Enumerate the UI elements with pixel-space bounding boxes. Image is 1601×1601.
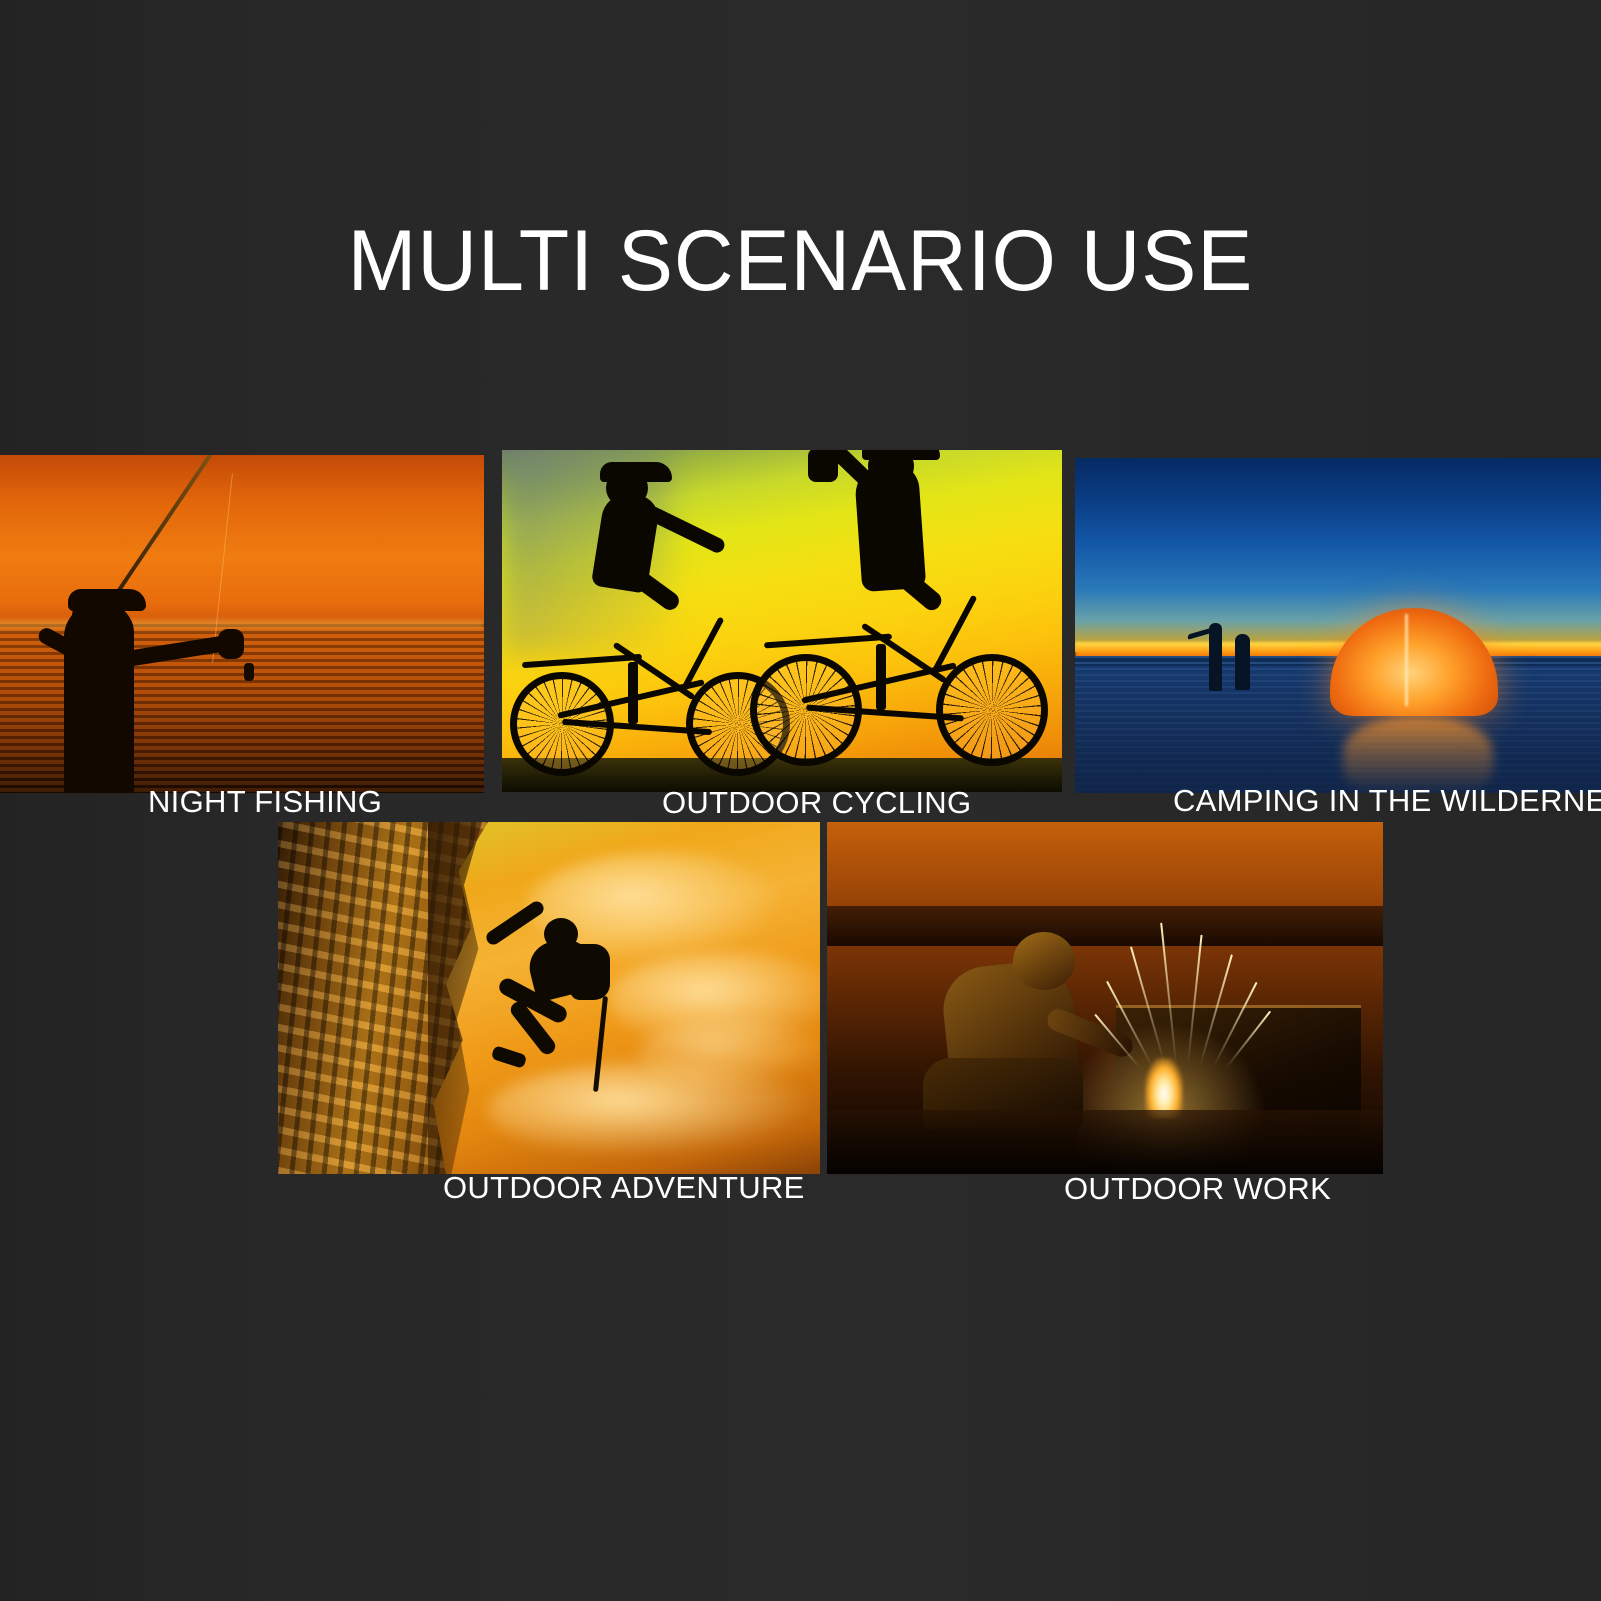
scene-outdoor-cycling xyxy=(502,450,1062,792)
panel-night-fishing[interactable] xyxy=(0,455,484,793)
scene-night-fishing xyxy=(0,455,484,793)
caption-camping-in-the-wilderness: CAMPING IN THE WILDERNESS xyxy=(1173,785,1601,816)
bicycle-right xyxy=(750,588,1050,778)
panel-outdoor-work[interactable] xyxy=(827,822,1383,1174)
slide-root: MULTI SCENARIO USE NIGHT FISHING xyxy=(0,0,1601,1601)
scene-camping xyxy=(1075,458,1601,793)
climber-silhouette xyxy=(474,900,634,1080)
page-title: MULTI SCENARIO USE xyxy=(32,218,1569,304)
figure-standing-right xyxy=(1235,634,1250,690)
welder-figure xyxy=(917,918,1147,1138)
caption-outdoor-work: OUTDOOR WORK xyxy=(1064,1173,1331,1204)
scene-outdoor-adventure xyxy=(278,822,820,1174)
caption-night-fishing: NIGHT FISHING xyxy=(148,786,382,817)
caption-outdoor-adventure: OUTDOOR ADVENTURE xyxy=(443,1172,805,1203)
panel-outdoor-cycling[interactable] xyxy=(502,450,1062,792)
angler-silhouette xyxy=(22,543,202,793)
welding-arc xyxy=(1145,1058,1183,1118)
scene-outdoor-work xyxy=(827,822,1383,1174)
panel-camping-in-the-wilderness[interactable] xyxy=(1075,458,1601,793)
caption-outdoor-cycling: OUTDOOR CYCLING xyxy=(662,787,971,818)
panel-outdoor-adventure[interactable] xyxy=(278,822,820,1174)
figure-standing-left xyxy=(1209,623,1222,691)
